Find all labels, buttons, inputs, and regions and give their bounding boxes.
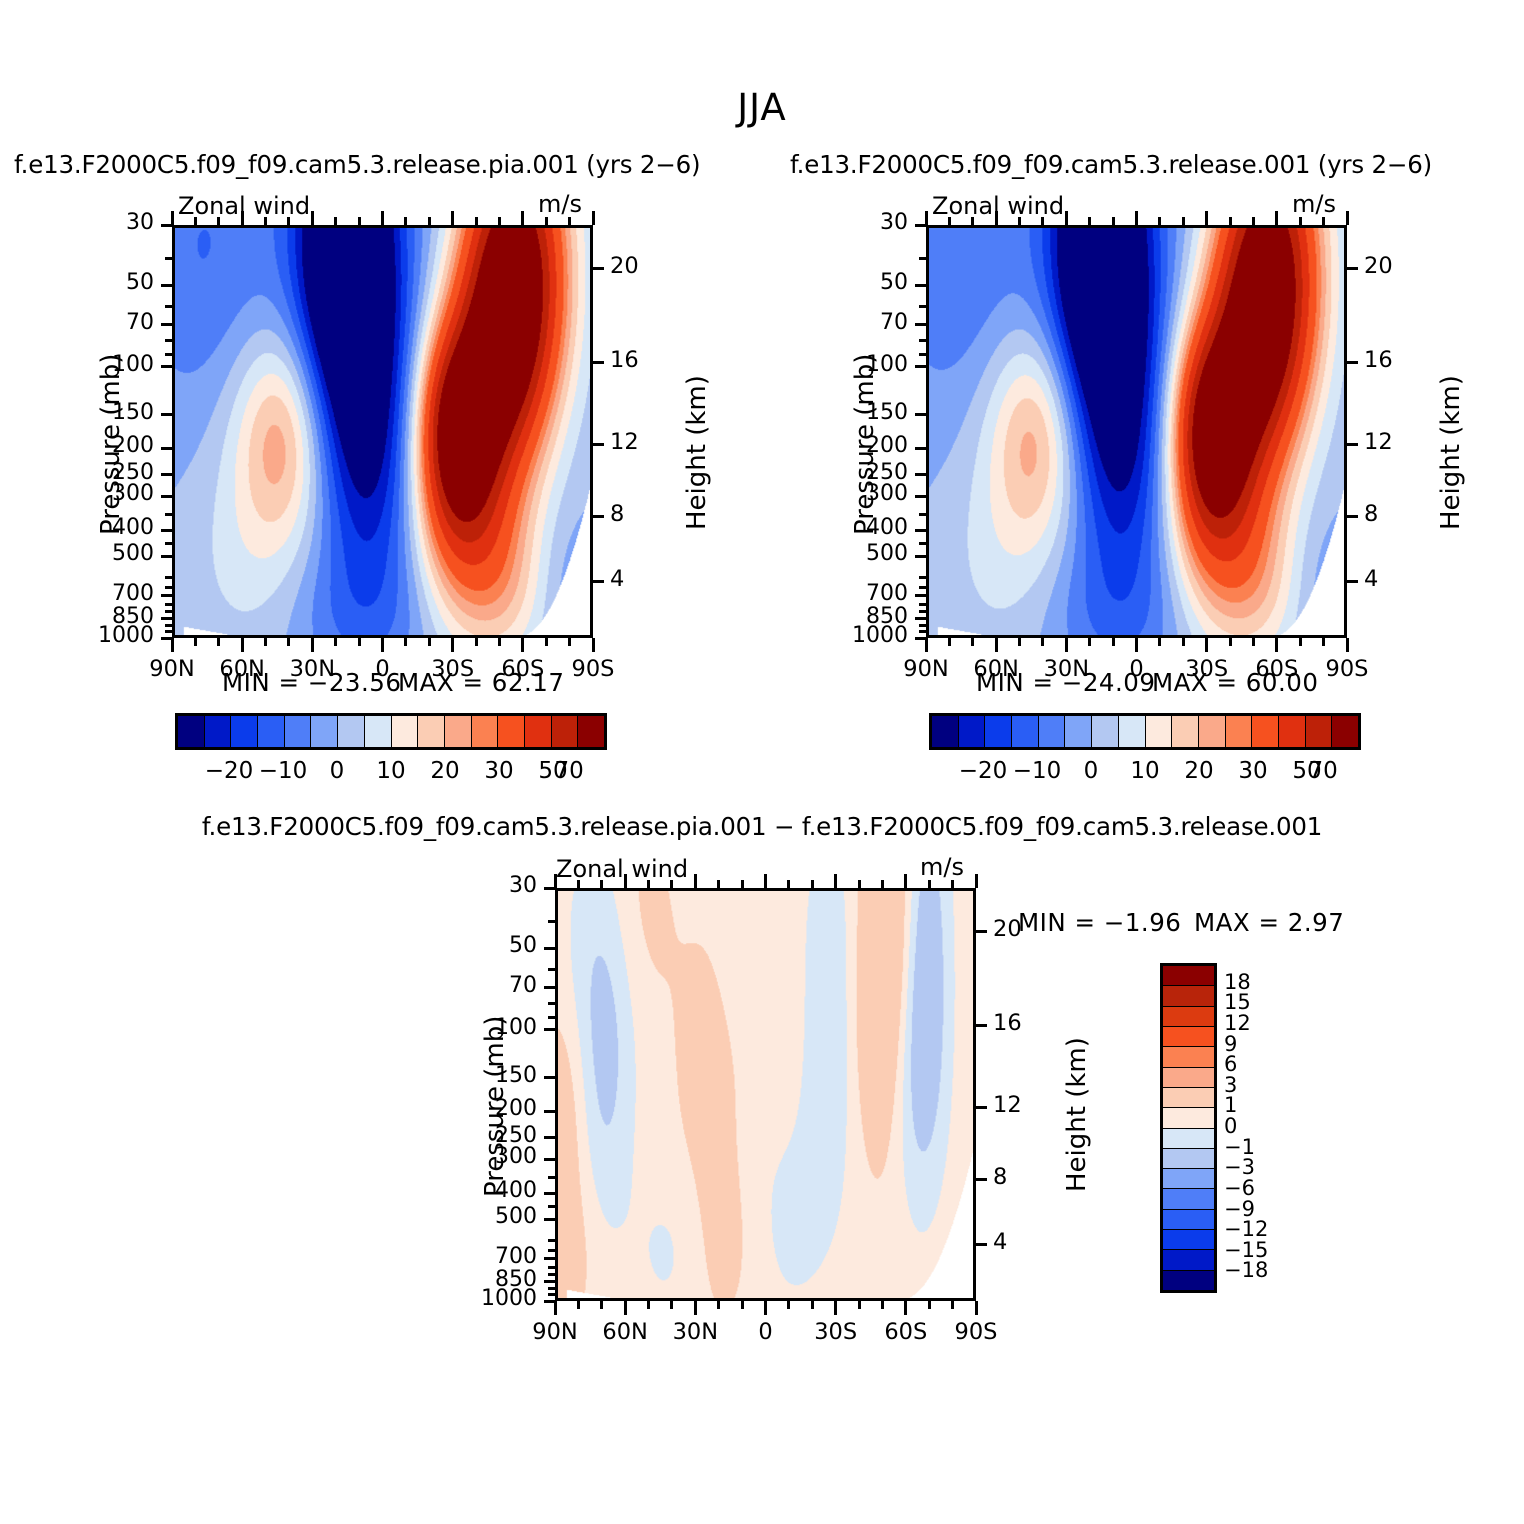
pressure-tick-70: [544, 986, 555, 989]
pressure-tick-label-30: 30: [509, 873, 537, 898]
height-tick-4: [1347, 580, 1358, 583]
latitude-tick: [811, 1301, 814, 1309]
pressure-minor-tick: [165, 603, 172, 606]
pressure-tick-150: [544, 1076, 555, 1079]
height-tick-16: [593, 361, 604, 364]
diff-panel-max-value: MAX = 2.97: [1194, 908, 1344, 937]
height-tick-label-12: 12: [610, 429, 639, 455]
colorbar-tick-label-20: 20: [415, 758, 475, 784]
pressure-tick-label-30: 30: [126, 210, 154, 235]
colorbar-cell[interactable]: [338, 716, 365, 747]
pressure-tick-label-700: 700: [495, 1244, 537, 1269]
latitude-tick: [858, 1301, 861, 1309]
height-tick-20: [1347, 267, 1358, 270]
colorbar-cell[interactable]: [1163, 1210, 1214, 1230]
colorbar-cell[interactable]: [1163, 1169, 1214, 1189]
pressure-tick-label-70: 70: [880, 310, 908, 335]
diff-panel-contour-canvas: [558, 891, 973, 1298]
pressure-tick-50: [161, 284, 172, 287]
pressure-tick-label-70: 70: [509, 973, 537, 998]
colorbar-cell[interactable]: [1172, 716, 1199, 747]
colorbar-cell[interactable]: [1163, 1068, 1214, 1088]
height-tick-4: [976, 1243, 987, 1246]
colorbar-tick-label-18: 18: [1224, 970, 1251, 994]
colorbar-tick-label-9: 9: [1224, 1032, 1237, 1056]
pressure-minor-tick: [548, 1249, 555, 1252]
latitude-tick: [834, 1301, 837, 1315]
latitude-tick-label-30S: 30S: [804, 1319, 868, 1345]
pressure-minor-tick: [548, 1002, 555, 1005]
pressure-tick-100: [544, 1028, 555, 1031]
colorbar-tick-label-10: 10: [361, 758, 421, 784]
pressure-minor-tick: [165, 257, 172, 260]
pressure-tick-50: [544, 947, 555, 950]
latitude-tick-label-90N: 90N: [523, 1319, 587, 1345]
pressure-tick-1000: [915, 637, 926, 640]
colorbar-cell[interactable]: [231, 716, 258, 747]
pressure-minor-tick: [919, 624, 926, 627]
diff-panel-plot[interactable]: [555, 888, 976, 1301]
height-tick-20: [976, 930, 987, 933]
height-tick-12: [1347, 443, 1358, 446]
height-tick-label-12: 12: [1364, 429, 1393, 455]
latitude-tick: [787, 880, 790, 888]
latitude-tick: [904, 1301, 907, 1315]
pressure-tick-50: [915, 284, 926, 287]
latitude-tick-label-90S: 90S: [1315, 656, 1379, 682]
height-tick-16: [1347, 361, 1358, 364]
pressure-tick-700: [544, 1257, 555, 1260]
left-panel-contour-canvas: [175, 228, 590, 635]
height-tick-label-16: 16: [993, 1010, 1022, 1036]
colorbar-cell[interactable]: [365, 716, 392, 747]
pressure-minor-tick: [165, 339, 172, 342]
height-tick-label-20: 20: [610, 253, 639, 279]
pressure-tick-150: [161, 413, 172, 416]
latitude-tick-label-90S: 90S: [561, 656, 625, 682]
pressure-tick-250: [161, 473, 172, 476]
latitude-tick: [428, 217, 431, 225]
pressure-tick-30: [161, 224, 172, 227]
latitude-tick: [1229, 638, 1232, 646]
height-tick-12: [593, 443, 604, 446]
latitude-tick: [717, 880, 720, 888]
height-tick-label-16: 16: [610, 347, 639, 373]
latitude-tick: [928, 1301, 931, 1309]
latitude-tick: [928, 880, 931, 888]
latitude-tick: [764, 1301, 767, 1315]
colorbar-cell[interactable]: [1163, 1129, 1214, 1149]
latitude-tick: [381, 638, 384, 652]
colorbar-cell[interactable]: [525, 716, 552, 747]
pressure-tick-100: [161, 365, 172, 368]
pressure-tick-850: [161, 617, 172, 620]
colorbar-cell[interactable]: [959, 716, 986, 747]
latitude-tick: [1252, 638, 1255, 646]
right-panel-y2-axis-title: Height (km): [1436, 375, 1466, 530]
latitude-tick: [881, 880, 884, 888]
pressure-minor-tick: [919, 610, 926, 613]
pressure-tick-700: [915, 594, 926, 597]
colorbar-cell[interactable]: [1332, 716, 1358, 747]
colorbar-cell[interactable]: [1252, 716, 1279, 747]
pressure-minor-tick: [548, 1287, 555, 1290]
colorbar-tick-label-30: 30: [469, 758, 529, 784]
diff-panel-units-label: m/s: [920, 853, 964, 881]
latitude-tick-label-60S: 60S: [874, 1319, 938, 1345]
latitude-tick: [287, 638, 290, 646]
pressure-tick-100: [915, 365, 926, 368]
latitude-tick-label-90N: 90N: [894, 656, 958, 682]
diff-panel-colorbar[interactable]: [1160, 963, 1217, 1293]
latitude-tick: [1346, 638, 1349, 652]
height-tick-label-12: 12: [993, 1092, 1022, 1118]
pressure-tick-150: [915, 413, 926, 416]
latitude-tick: [498, 638, 501, 646]
pressure-tick-250: [544, 1136, 555, 1139]
latitude-tick: [764, 874, 767, 888]
latitude-tick: [1275, 638, 1278, 652]
latitude-tick: [592, 211, 595, 225]
height-tick-label-16: 16: [1364, 347, 1393, 373]
latitude-tick: [381, 211, 384, 225]
colorbar-tick-label-neg9: −9: [1224, 1197, 1255, 1221]
colorbar-tick-label-1: 1: [1224, 1093, 1237, 1117]
colorbar-cell[interactable]: [258, 716, 285, 747]
colorbar-tick-label-neg12: −12: [1224, 1217, 1268, 1241]
height-tick-12: [976, 1106, 987, 1109]
colorbar-cell[interactable]: [578, 716, 604, 747]
colorbar-cell[interactable]: [1012, 716, 1039, 747]
pressure-tick-label-50: 50: [880, 270, 908, 295]
latitude-tick: [624, 1301, 627, 1315]
latitude-tick: [1018, 638, 1021, 646]
right-panel-contour-canvas: [929, 228, 1344, 635]
latitude-tick: [568, 217, 571, 225]
colorbar-cell[interactable]: [1163, 1108, 1214, 1128]
latitude-tick: [1205, 638, 1208, 652]
latitude-tick: [1041, 638, 1044, 646]
pressure-tick-label-500: 500: [866, 541, 908, 566]
pressure-tick-500: [915, 555, 926, 558]
colorbar-tick-label-−20: −20: [953, 758, 1013, 784]
diff-panel-y2-axis-title: Height (km): [1062, 1037, 1092, 1192]
pressure-tick-label-1000: 1000: [98, 623, 154, 648]
pressure-tick-400: [915, 529, 926, 532]
colorbar-tick-label-12: 12: [1224, 1011, 1251, 1035]
pressure-minor-tick: [548, 920, 555, 923]
colorbar-cell[interactable]: [1163, 1088, 1214, 1108]
height-tick-20: [593, 267, 604, 270]
colorbar-tick-label-70: 70: [1293, 758, 1353, 784]
latitude-tick: [948, 638, 951, 646]
latitude-tick: [404, 217, 407, 225]
colorbar-cell[interactable]: [498, 716, 525, 747]
latitude-tick: [404, 638, 407, 646]
latitude-tick: [951, 1301, 954, 1309]
latitude-tick: [1252, 217, 1255, 225]
left-panel-plot[interactable]: [172, 225, 593, 638]
pressure-minor-tick: [919, 257, 926, 260]
pressure-tick-label-850: 850: [112, 604, 154, 629]
colorbar-cell[interactable]: [205, 716, 232, 747]
latitude-tick: [741, 880, 744, 888]
pressure-tick-label-70: 70: [126, 310, 154, 335]
pressure-minor-tick: [919, 513, 926, 516]
pressure-minor-tick: [919, 630, 926, 633]
colorbar-cell[interactable]: [1163, 1149, 1214, 1169]
colorbar-cell[interactable]: [178, 716, 205, 747]
pressure-tick-200: [544, 1110, 555, 1113]
latitude-tick-label-60N: 60N: [593, 1319, 657, 1345]
pressure-tick-300: [915, 495, 926, 498]
pressure-minor-tick: [548, 1016, 555, 1019]
pressure-tick-250: [915, 473, 926, 476]
latitude-tick: [1065, 211, 1068, 225]
season-title: JJA: [0, 86, 1524, 129]
latitude-tick: [1299, 638, 1302, 646]
height-tick-label-4: 4: [610, 566, 624, 592]
latitude-tick: [975, 874, 978, 888]
colorbar-cell[interactable]: [1163, 1047, 1214, 1067]
diff-panel-y-axis-title: Pressure (mb): [480, 1016, 510, 1197]
latitude-tick-label-90S: 90S: [944, 1319, 1008, 1345]
pressure-tick-200: [161, 447, 172, 450]
right-panel-case-title: f.e13.F2000C5.f09_f09.cam5.3.release.001…: [790, 150, 1432, 179]
latitude-tick: [171, 211, 174, 225]
right-panel-units-label: m/s: [1292, 190, 1336, 218]
colorbar-cell[interactable]: [285, 716, 312, 747]
latitude-tick: [451, 211, 454, 225]
latitude-tick: [194, 638, 197, 646]
left-panel-colorbar[interactable]: [175, 713, 607, 750]
height-tick-label-8: 8: [1364, 501, 1378, 527]
latitude-tick: [694, 874, 697, 888]
latitude-tick: [1275, 211, 1278, 225]
latitude-tick: [592, 638, 595, 652]
colorbar-cell[interactable]: [1163, 1271, 1214, 1290]
colorbar-tick-label-20: 20: [1169, 758, 1229, 784]
colorbar-cell[interactable]: [985, 716, 1012, 747]
pressure-tick-1000: [544, 1300, 555, 1303]
latitude-tick: [1112, 638, 1115, 646]
right-panel-y-axis-title: Pressure (mb): [850, 354, 880, 535]
colorbar-tick-label-50: 50: [523, 758, 583, 784]
right-panel-plot[interactable]: [926, 225, 1347, 638]
latitude-tick: [811, 880, 814, 888]
latitude-tick-label-90N: 90N: [140, 656, 204, 682]
colorbar-tick-label-10: 10: [1115, 758, 1175, 784]
pressure-minor-tick: [165, 576, 172, 579]
pressure-tick-label-500: 500: [495, 1204, 537, 1229]
latitude-tick: [241, 638, 244, 652]
height-tick-label-20: 20: [1364, 253, 1393, 279]
latitude-tick: [1065, 638, 1068, 652]
colorbar-cell[interactable]: [1163, 1230, 1214, 1250]
pressure-tick-70: [161, 323, 172, 326]
latitude-tick: [568, 638, 571, 646]
pressure-minor-tick: [919, 576, 926, 579]
pressure-minor-tick: [919, 339, 926, 342]
latitude-tick: [694, 1301, 697, 1315]
latitude-tick: [1135, 211, 1138, 225]
height-tick-8: [1347, 515, 1358, 518]
latitude-tick: [311, 211, 314, 225]
colorbar-cell[interactable]: [1163, 966, 1214, 986]
colorbar-cell[interactable]: [1163, 1250, 1214, 1270]
latitude-tick: [334, 638, 337, 646]
pressure-tick-label-700: 700: [866, 581, 908, 606]
colorbar-cell[interactable]: [472, 716, 499, 747]
latitude-tick: [451, 638, 454, 652]
latitude-tick: [925, 638, 928, 652]
latitude-tick: [1088, 638, 1091, 646]
latitude-tick: [171, 638, 174, 652]
latitude-tick: [1322, 638, 1325, 646]
latitude-tick-label-0: 0: [734, 1319, 798, 1345]
colorbar-cell[interactable]: [1163, 986, 1214, 1006]
colorbar-cell[interactable]: [418, 716, 445, 747]
colorbar-cell[interactable]: [1163, 1027, 1214, 1047]
left-panel-y-axis-title: Pressure (mb): [96, 354, 126, 535]
pressure-tick-label-50: 50: [509, 933, 537, 958]
colorbar-cell[interactable]: [552, 716, 579, 747]
diff-panel-case-title: f.e13.F2000C5.f09_f09.cam5.3.release.pia…: [0, 812, 1524, 841]
pressure-minor-tick: [165, 305, 172, 308]
pressure-tick-70: [915, 323, 926, 326]
latitude-tick: [264, 638, 267, 646]
pressure-tick-30: [915, 224, 926, 227]
colorbar-tick-label-50: 50: [1277, 758, 1337, 784]
latitude-tick: [475, 217, 478, 225]
latitude-tick: [358, 638, 361, 646]
latitude-tick: [741, 1301, 744, 1309]
pressure-minor-tick: [919, 603, 926, 606]
colorbar-cell[interactable]: [1039, 716, 1066, 747]
pressure-tick-label-700: 700: [112, 581, 154, 606]
right-panel-variable-label: Zonal wind: [932, 192, 1064, 220]
colorbar-cell[interactable]: [392, 716, 419, 747]
colorbar-cell[interactable]: [1092, 716, 1119, 747]
colorbar-tick-label-3: 3: [1224, 1073, 1237, 1097]
pressure-minor-tick: [548, 968, 555, 971]
colorbar-tick-label-−10: −10: [253, 758, 313, 784]
colorbar-cell[interactable]: [1163, 1007, 1214, 1027]
colorbar-cell[interactable]: [445, 716, 472, 747]
pressure-tick-300: [544, 1158, 555, 1161]
pressure-tick-1000: [161, 637, 172, 640]
colorbar-tick-label-6: 6: [1224, 1052, 1237, 1076]
pressure-tick-label-50: 50: [126, 270, 154, 295]
latitude-tick: [600, 1301, 603, 1309]
colorbar-cell[interactable]: [932, 716, 959, 747]
pressure-minor-tick: [165, 610, 172, 613]
colorbar-cell[interactable]: [1146, 716, 1173, 747]
latitude-tick: [1182, 638, 1185, 646]
colorbar-cell[interactable]: [1199, 716, 1226, 747]
pressure-minor-tick: [919, 353, 926, 356]
latitude-tick: [475, 638, 478, 646]
latitude-tick: [1346, 211, 1349, 225]
left-panel-case-title: f.e13.F2000C5.f09_f09.cam5.3.release.pia…: [14, 150, 700, 179]
latitude-tick: [358, 217, 361, 225]
colorbar-cell[interactable]: [1163, 1189, 1214, 1209]
latitude-tick: [545, 217, 548, 225]
colorbar-cell[interactable]: [1306, 716, 1333, 747]
pressure-minor-tick: [165, 513, 172, 516]
colorbar-cell[interactable]: [1279, 716, 1306, 747]
latitude-tick: [1182, 217, 1185, 225]
right-panel-max-value: MAX = 60.00: [1152, 668, 1318, 697]
height-tick-16: [976, 1024, 987, 1027]
pressure-tick-label-30: 30: [880, 210, 908, 235]
pressure-tick-label-850: 850: [866, 604, 908, 629]
pressure-tick-500: [544, 1218, 555, 1221]
colorbar-tick-label-0: 0: [1061, 758, 1121, 784]
colorbar-tick-label-neg1: −1: [1224, 1135, 1255, 1159]
pressure-minor-tick: [165, 586, 172, 589]
latitude-tick: [1112, 217, 1115, 225]
left-panel-min-value: MIN = −23.56: [222, 668, 401, 697]
pressure-minor-tick: [548, 1293, 555, 1296]
colorbar-tick-label-neg15: −15: [1224, 1238, 1268, 1262]
pressure-tick-300: [161, 495, 172, 498]
latitude-tick: [545, 638, 548, 646]
latitude-tick-label-30N: 30N: [663, 1319, 727, 1345]
colorbar-cell[interactable]: [311, 716, 338, 747]
pressure-tick-500: [161, 555, 172, 558]
colorbar-cell[interactable]: [1065, 716, 1092, 747]
pressure-tick-850: [544, 1280, 555, 1283]
latitude-tick: [995, 638, 998, 652]
latitude-tick: [217, 638, 220, 646]
latitude-tick: [670, 1301, 673, 1309]
left-panel-max-value: MAX = 62.17: [398, 668, 564, 697]
latitude-tick: [1299, 217, 1302, 225]
colorbar-tick-label-15: 15: [1224, 990, 1251, 1014]
latitude-tick: [951, 880, 954, 888]
height-tick-8: [593, 515, 604, 518]
colorbar-tick-label-−10: −10: [1007, 758, 1067, 784]
colorbar-tick-label-0: 0: [1224, 1114, 1237, 1138]
latitude-tick: [971, 638, 974, 646]
colorbar-tick-label-0: 0: [307, 758, 367, 784]
left-panel-units-label: m/s: [538, 190, 582, 218]
latitude-tick: [1205, 211, 1208, 225]
colorbar-tick-label-neg18: −18: [1224, 1258, 1268, 1282]
colorbar-cell[interactable]: [1226, 716, 1253, 747]
latitude-tick: [834, 874, 837, 888]
latitude-tick: [521, 211, 524, 225]
diff-panel-min-value: MIN = −1.96: [1018, 908, 1181, 937]
latitude-tick: [858, 880, 861, 888]
right-panel-min-value: MIN = −24.09: [976, 668, 1155, 697]
pressure-tick-850: [915, 617, 926, 620]
pressure-minor-tick: [548, 1266, 555, 1269]
pressure-minor-tick: [165, 624, 172, 627]
height-tick-label-4: 4: [993, 1229, 1007, 1255]
colorbar-tick-label-neg6: −6: [1224, 1176, 1255, 1200]
left-panel-y2-axis-title: Height (km): [682, 375, 712, 530]
right-panel-colorbar[interactable]: [929, 713, 1361, 750]
latitude-tick: [1322, 217, 1325, 225]
pressure-minor-tick: [548, 1239, 555, 1242]
latitude-tick: [428, 638, 431, 646]
pressure-minor-tick: [919, 586, 926, 589]
colorbar-cell[interactable]: [1119, 716, 1146, 747]
colorbar-tick-label-30: 30: [1223, 758, 1283, 784]
latitude-tick: [1135, 638, 1138, 652]
